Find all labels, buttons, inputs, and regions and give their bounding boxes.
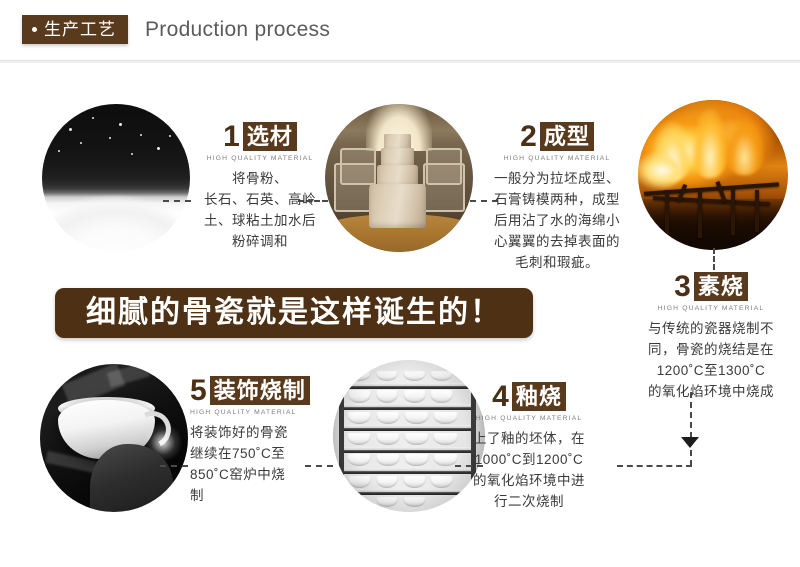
step-2: 2 成型 HIGH QUALITY MATERIAL 一般分为拉坯成型、 石膏铸… — [482, 122, 632, 273]
step-1-subtitle: HIGH QUALITY MATERIAL — [193, 155, 327, 162]
step-5-heading: 5 装饰烧制 — [190, 376, 340, 405]
step-3-heading: 3 素烧 — [632, 272, 790, 301]
step-3-description: 与传统的瓷器烧制不 同，骨瓷的烧结是在 1200˚C至1300˚C 的氧化焰环境… — [632, 318, 790, 402]
page-title: Production process — [145, 15, 330, 44]
connector-dash-glaze-to-step5 — [160, 465, 188, 467]
page-header: 生产工艺 Production process — [0, 0, 800, 62]
headline-banner-text: 细腻的骨瓷就是这样诞生的！ — [55, 288, 533, 338]
step-3-line-1: 与传统的瓷器烧制不 — [632, 318, 790, 339]
step-4-line-4: 行二次烧制 — [453, 491, 605, 512]
photo-decorating-glazing — [40, 364, 188, 512]
step-1: 1 选材 HIGH QUALITY MATERIAL 将骨粉、 长石、石英、高岭… — [190, 122, 330, 252]
headline-banner: 细腻的骨瓷就是这样诞生的！ — [55, 288, 533, 338]
arrow-down-icon — [681, 437, 699, 448]
step-2-line-5: 毛刺和瑕疵。 — [482, 252, 632, 273]
step-4-line-1: 上了釉的坯体，在 — [453, 428, 605, 449]
step-4-subtitle: HIGH QUALITY MATERIAL — [456, 415, 602, 422]
step-1-line-2: 长石、石英、高岭 — [190, 189, 330, 210]
connector-dash-below-arrow — [690, 450, 692, 466]
step-1-description: 将骨粉、 长石、石英、高岭 土、球粘土加水后 粉碎调和 — [190, 168, 330, 252]
step-3: 3 素烧 HIGH QUALITY MATERIAL 与传统的瓷器烧制不 同，骨… — [632, 272, 790, 402]
photo-white-powder-image — [42, 104, 190, 252]
step-4-line-2: 1000˚C到1200˚C — [453, 449, 605, 470]
section-badge-label: 生产工艺 — [44, 20, 116, 39]
connector-dash-powder-to-step1 — [163, 200, 191, 202]
step-2-line-3: 后用沾了水的海绵小 — [482, 210, 632, 231]
photo-clay-forming-image — [325, 104, 473, 252]
photo-kiln-fire-image — [638, 100, 788, 250]
connector-dash-fire-to-step3 — [713, 248, 715, 270]
step-5: 5 装饰烧制 HIGH QUALITY MATERIAL 将装饰好的骨瓷 继续在… — [190, 376, 340, 506]
production-process-infographic: 生产工艺 Production process — [0, 0, 800, 567]
step-1-line-1: 将骨粉、 — [190, 168, 330, 189]
step-1-number: 1 — [223, 123, 240, 151]
section-badge: 生产工艺 — [22, 15, 128, 44]
step-1-line-4: 粉碎调和 — [190, 231, 330, 252]
step-2-name: 成型 — [540, 122, 594, 151]
bullet-dot-icon — [32, 27, 37, 32]
photo-clay-forming — [325, 104, 473, 252]
step-1-heading: 1 选材 — [190, 122, 330, 151]
step-2-line-2: 石膏铸模两种，成型 — [482, 189, 632, 210]
step-2-number: 2 — [520, 123, 537, 151]
step-5-subtitle: HIGH QUALITY MATERIAL — [190, 409, 334, 416]
step-2-description: 一般分为拉坯成型、 石膏铸模两种，成型 后用沾了水的海绵小 心翼翼的去掉表面的 … — [482, 168, 632, 273]
step-5-description: 将装饰好的骨瓷 继续在750˚C至 850˚C窑炉中烧 制 — [190, 422, 340, 506]
step-5-line-2: 继续在750˚C至 — [190, 443, 340, 464]
step-2-heading: 2 成型 — [482, 122, 632, 151]
photo-kiln-fire — [638, 100, 788, 250]
step-3-line-4: 的氧化焰环境中烧成 — [632, 381, 790, 402]
step-5-line-3: 850˚C窑炉中烧 — [190, 464, 340, 485]
step-4-line-3: 的氧化焰环境中进 — [453, 470, 605, 491]
step-4-number: 4 — [492, 383, 509, 411]
step-5-line-1: 将装饰好的骨瓷 — [190, 422, 340, 443]
step-3-line-3: 1200˚C至1300˚C — [632, 360, 790, 381]
step-1-line-3: 土、球粘土加水后 — [190, 210, 330, 231]
step-3-number: 3 — [674, 273, 691, 301]
step-3-line-2: 同，骨瓷的烧结是在 — [632, 339, 790, 360]
step-3-name: 素烧 — [694, 272, 748, 301]
connector-dash-to-step4 — [617, 465, 692, 467]
step-4-name: 釉烧 — [512, 382, 566, 411]
step-5-number: 5 — [190, 377, 207, 405]
step-3-subtitle: HIGH QUALITY MATERIAL — [635, 305, 787, 312]
step-2-subtitle: HIGH QUALITY MATERIAL — [485, 155, 629, 162]
photo-decorating-glazing-image — [40, 364, 188, 512]
step-2-line-4: 心翼翼的去掉表面的 — [482, 231, 632, 252]
step-5-line-4: 制 — [190, 485, 340, 506]
header-divider — [0, 60, 800, 63]
step-4-heading: 4 釉烧 — [453, 382, 605, 411]
photo-white-powder — [42, 104, 190, 252]
step-4: 4 釉烧 HIGH QUALITY MATERIAL 上了釉的坯体，在 1000… — [453, 382, 605, 512]
step-1-name: 选材 — [243, 122, 297, 151]
step-5-name: 装饰烧制 — [210, 376, 310, 405]
step-2-line-1: 一般分为拉坯成型、 — [482, 168, 632, 189]
step-4-description: 上了釉的坯体，在 1000˚C到1200˚C 的氧化焰环境中进 行二次烧制 — [453, 428, 605, 512]
